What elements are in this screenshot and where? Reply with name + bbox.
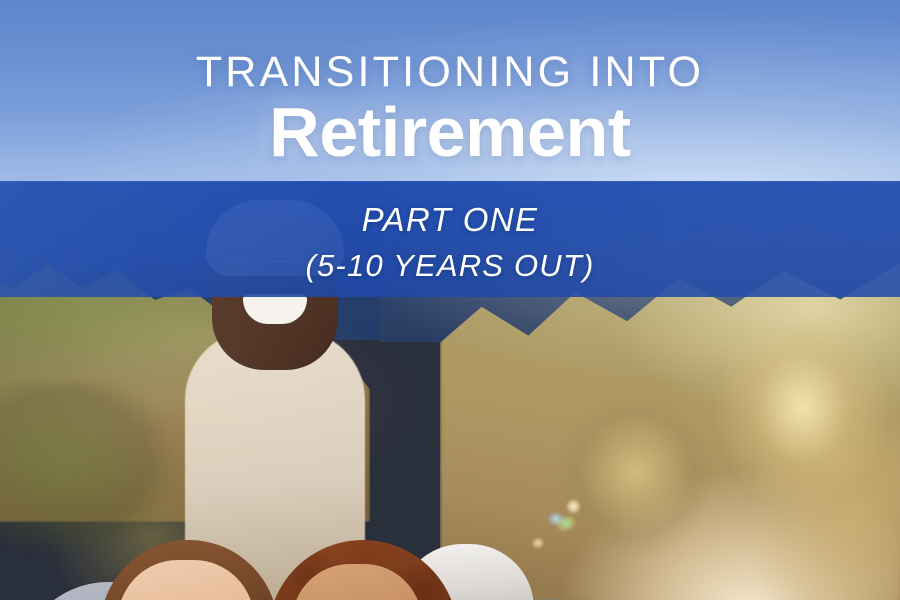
brush-right (710, 332, 900, 600)
subtitle-timeframe-label: (5-10 YEARS OUT) (0, 248, 900, 284)
lens-flare-icon (567, 500, 580, 513)
subtitle-band: PART ONE (5-10 YEARS OUT) (0, 181, 900, 297)
subtitle-part-label: PART ONE (0, 201, 900, 239)
retirement-banner: TRANSITIONING INTO Retirement PART ONE (… (0, 0, 900, 600)
lens-flare-icon (532, 538, 544, 548)
title-main: Retirement (0, 94, 900, 170)
title-kicker: TRANSITIONING INTO (0, 48, 900, 96)
page-title: TRANSITIONING INTO Retirement (0, 48, 900, 170)
subtitle-text-group: PART ONE (5-10 YEARS OUT) (0, 201, 900, 284)
brush-middle (555, 397, 735, 587)
